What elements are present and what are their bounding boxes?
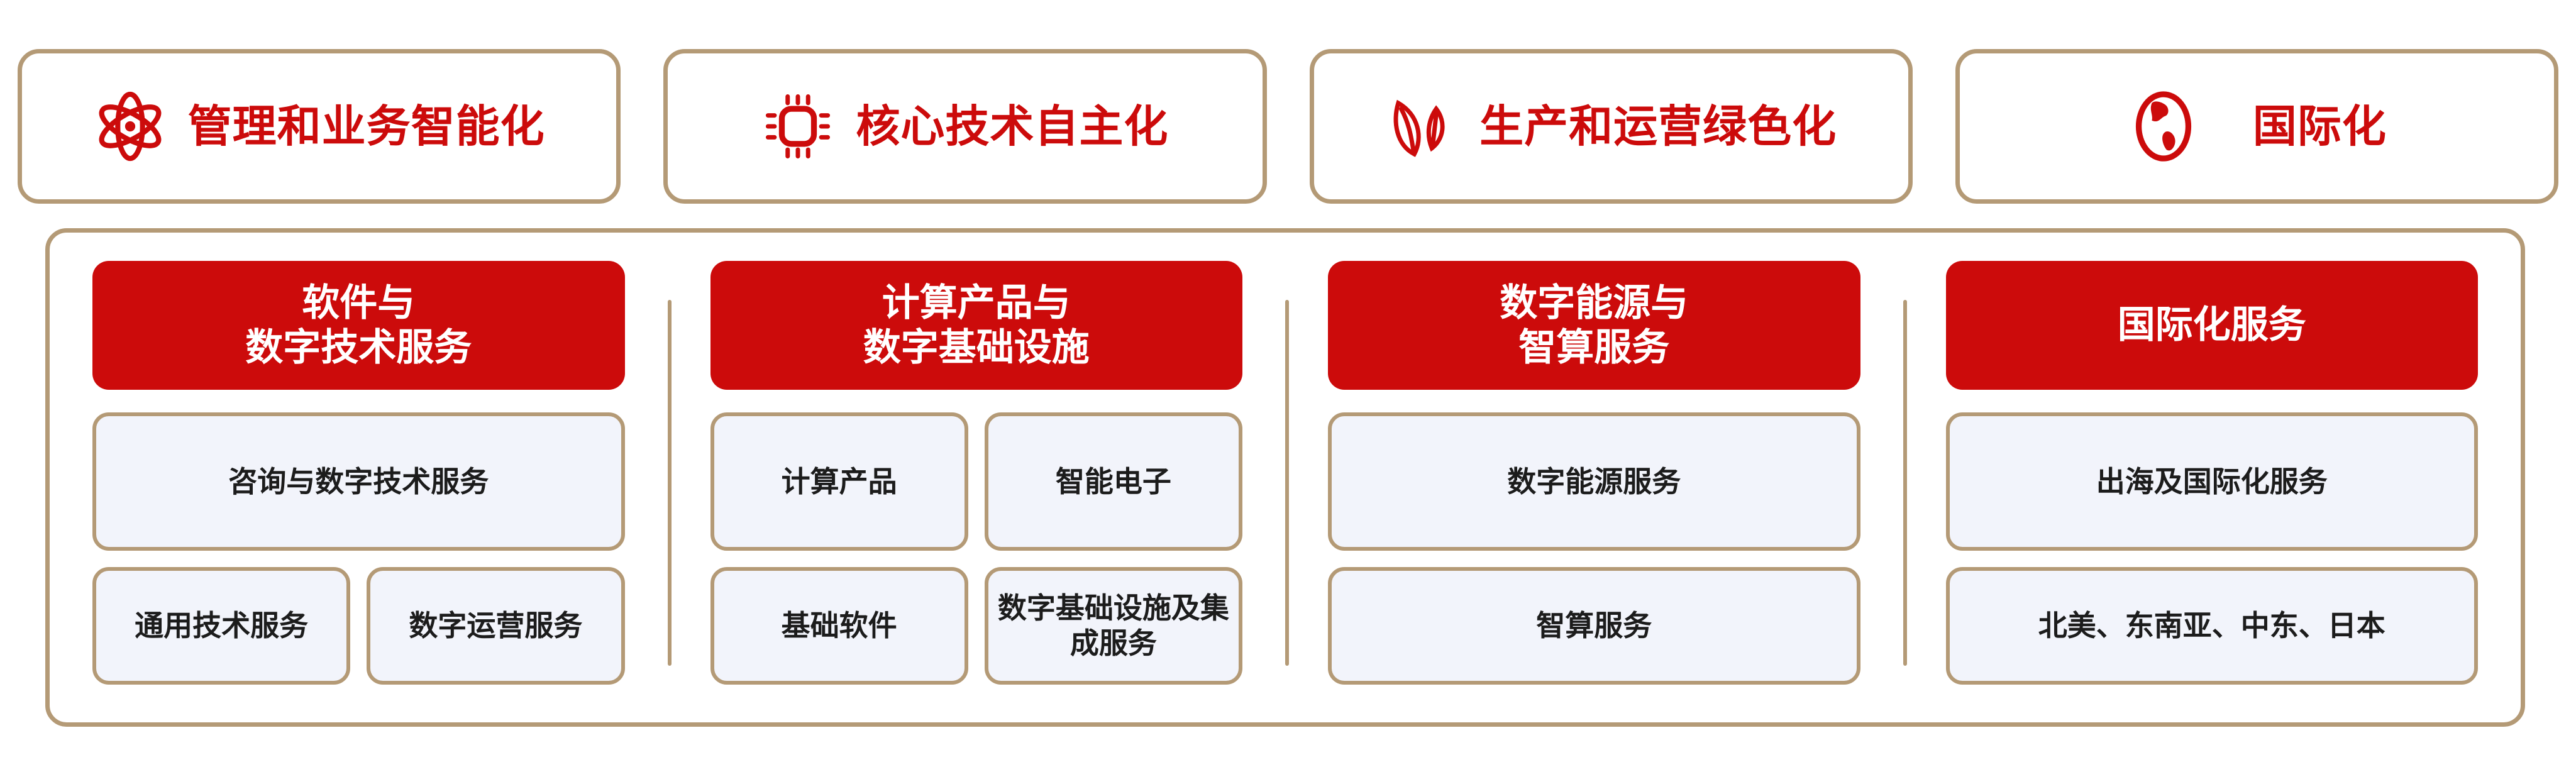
sub-service-box[interactable]: 智算服务: [1328, 567, 1860, 685]
segment-body: 出海及国际化服务 北美、东南亚、中东、日本: [1946, 412, 2479, 685]
segment-header-line2: 智算服务: [1518, 326, 1669, 368]
pillar-card-core-technology-autonomy[interactable]: 核心技术自主化: [663, 49, 1266, 204]
pillar-label: 国际化: [2253, 104, 2387, 148]
sub-service-box[interactable]: 数字能源服务: [1328, 412, 1860, 551]
segment-column-software-digital-tech: 软件与 数字技术服务 咨询与数字技术服务 通用技术服务 数字运营服务: [50, 261, 668, 685]
sub-service-box[interactable]: 智能电子: [985, 412, 1242, 551]
sub-service-box[interactable]: 数字基础设施及集成服务: [985, 567, 1242, 685]
strategic-pillars-row: 管理和业务智能化: [18, 49, 2558, 204]
segment-row: 数字能源服务: [1328, 412, 1860, 551]
chip-icon: [761, 90, 834, 163]
segment-column-international-services: 国际化服务 出海及国际化服务 北美、东南亚、中东、日本: [1903, 261, 2521, 685]
pillar-card-management-intelligence[interactable]: 管理和业务智能化: [18, 49, 621, 204]
segment-row: 通用技术服务 数字运营服务: [92, 567, 625, 685]
segment-row: 基础软件 数字基础设施及集成服务: [710, 567, 1243, 685]
segment-body: 计算产品 智能电子 基础软件 数字基础设施及集成服务: [710, 412, 1243, 685]
segment-body: 咨询与数字技术服务 通用技术服务 数字运营服务: [92, 412, 625, 685]
segment-header-line2: 数字技术服务: [245, 326, 472, 368]
business-segments-columns: 软件与 数字技术服务 咨询与数字技术服务 通用技术服务 数字运营服务 计算产品与…: [50, 233, 2521, 722]
sub-service-box[interactable]: 北美、东南亚、中东、日本: [1946, 567, 2479, 685]
pillar-card-green-operations[interactable]: 生产和运营绿色化: [1310, 49, 1913, 204]
segment-body: 数字能源服务 智算服务: [1328, 412, 1860, 685]
segment-header[interactable]: 国际化服务: [1946, 261, 2479, 390]
business-segments-panel: 软件与 数字技术服务 咨询与数字技术服务 通用技术服务 数字运营服务 计算产品与…: [45, 228, 2525, 727]
segment-header-line1: 软件与: [302, 282, 415, 324]
pillar-label: 生产和运营绿色化: [1479, 104, 1837, 148]
sub-service-box[interactable]: 咨询与数字技术服务: [92, 412, 625, 551]
segment-column-compute-products-infrastructure: 计算产品与 数字基础设施 计算产品 智能电子 基础软件 数字基础设施及集成服务: [668, 261, 1286, 685]
segment-row: 计算产品 智能电子: [710, 412, 1243, 551]
segment-header-line1: 数字能源与: [1500, 282, 1688, 324]
segment-column-digital-energy-compute: 数字能源与 智算服务 数字能源服务 智算服务: [1285, 261, 1903, 685]
segment-row: 北美、东南亚、中东、日本: [1946, 567, 2479, 685]
segment-row: 智算服务: [1328, 567, 1860, 685]
sub-service-box[interactable]: 出海及国际化服务: [1946, 412, 2479, 551]
sub-service-box[interactable]: 计算产品: [710, 412, 968, 551]
leaf-icon: [1385, 90, 1458, 163]
segment-header-line1: 国际化服务: [2118, 304, 2306, 346]
segment-header[interactable]: 数字能源与 智算服务: [1328, 261, 1860, 390]
globe-icon: [2127, 90, 2200, 163]
sub-service-box[interactable]: 数字运营服务: [367, 567, 624, 685]
segment-row: 出海及国际化服务: [1946, 412, 2479, 551]
pillar-label: 管理和业务智能化: [188, 104, 545, 148]
segment-header-line1: 计算产品与: [882, 282, 1071, 324]
segment-row: 咨询与数字技术服务: [92, 412, 625, 551]
segment-header-line2: 数字基础设施: [863, 326, 1090, 368]
segment-header[interactable]: 计算产品与 数字基础设施: [710, 261, 1243, 390]
pillar-card-internationalization[interactable]: 国际化: [1955, 49, 2558, 204]
sub-service-box[interactable]: 基础软件: [710, 567, 968, 685]
atom-icon: [94, 90, 167, 163]
segment-header[interactable]: 软件与 数字技术服务: [92, 261, 625, 390]
pillar-label: 核心技术自主化: [856, 104, 1168, 148]
sub-service-box[interactable]: 通用技术服务: [92, 567, 350, 685]
